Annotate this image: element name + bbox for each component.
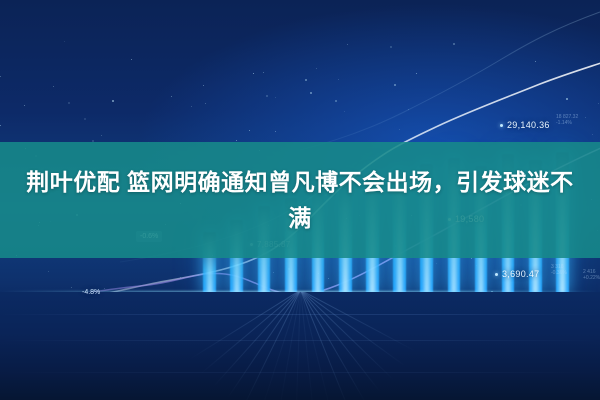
- data-label-marker: [495, 273, 498, 276]
- data-label-marker: [500, 124, 503, 127]
- floor-ray: [260, 292, 301, 400]
- micro-label-edge: 2 416 +0.22%: [583, 269, 600, 281]
- data-label-top: 29,140.36: [500, 120, 550, 130]
- headline-band: 荆叶优配 篮网明确通知曾凡博不会出场，引发球迷不满: [0, 142, 600, 258]
- data-label-bottom: 3,690.47: [495, 269, 539, 279]
- banner-stage: 29,140.36 19,580 7,885.87 3,690.47 18 82…: [0, 0, 600, 400]
- perspective-floor: [0, 292, 600, 400]
- floor-ray: [300, 292, 394, 381]
- percent-label-lower: -4.8%: [82, 289, 100, 296]
- micro-label-top: 18 827.32 -1.14%: [556, 114, 578, 126]
- series-line-faint: [300, 12, 600, 150]
- micro-delta: +0.22%: [583, 275, 600, 281]
- page-title: 荆叶优配 篮网明确通知曾凡博不会出场，引发球迷不满: [20, 164, 580, 236]
- micro-label-bottom: 3 318 -0.36%: [551, 264, 567, 276]
- micro-delta: -0.36%: [551, 270, 567, 276]
- floor-gridline: [0, 340, 600, 341]
- floor-gridline: [0, 314, 600, 315]
- micro-delta: -1.14%: [556, 120, 578, 126]
- floor-gridline: [0, 372, 600, 373]
- floor-rays: [0, 292, 600, 400]
